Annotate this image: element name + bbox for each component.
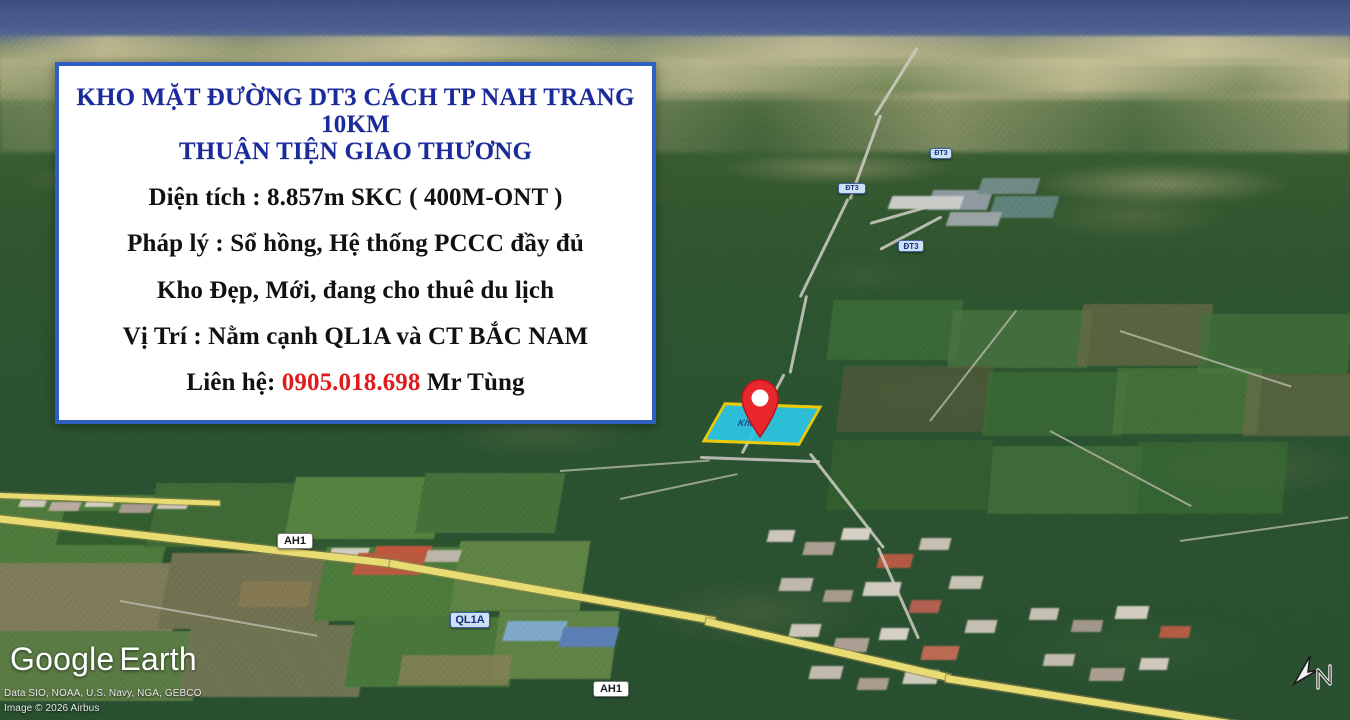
- contact-line: Liên hệ: 0905.018.698 Mr Tùng: [73, 370, 638, 396]
- google-earth-logo: GoogleEarth: [10, 641, 197, 678]
- north-arrow-icon[interactable]: [1288, 650, 1336, 694]
- panel-title-line-2: THUẬN TIỆN GIAO THƯƠNG: [73, 138, 638, 165]
- earth-wordmark: Earth: [119, 641, 196, 677]
- panel-title-line-1: KHO MẶT ĐƯỜNG DT3 CÁCH TP NAH TRANG 10KM: [73, 84, 638, 138]
- google-wordmark: Google: [10, 641, 114, 677]
- panel-title: KHO MẶT ĐƯỜNG DT3 CÁCH TP NAH TRANG 10KM…: [73, 84, 638, 165]
- detail-legal: Pháp lý : Sổ hồng, Hệ thống PCCC đầy đủ: [73, 231, 638, 257]
- listing-info-panel: KHO MẶT ĐƯỜNG DT3 CÁCH TP NAH TRANG 10KM…: [55, 62, 656, 424]
- contact-person: Mr Tùng: [427, 369, 525, 396]
- panel-details: Diện tích : 8.857m SKC ( 400M-ONT ) Pháp…: [73, 185, 638, 396]
- contact-phone[interactable]: 0905.018.698: [282, 369, 421, 396]
- contact-prefix: Liên hệ:: [186, 369, 275, 396]
- detail-status: Kho Đẹp, Mới, đang cho thuê du lịch: [73, 278, 638, 304]
- attribution-data: Data SIO, NOAA, U.S. Navy, NGA, GEBCO: [4, 688, 201, 699]
- detail-area: Diện tích : 8.857m SKC ( 400M-ONT ): [73, 185, 638, 211]
- detail-location: Vị Trí : Nằm cạnh QL1A và CT BẮC NAM: [73, 324, 638, 350]
- google-earth-screenshot: AH1 QL1A AH1 ĐT3 ĐT3 ĐT3 Kho GoogleEarth…: [0, 0, 1350, 720]
- attribution-image: Image © 2026 Airbus: [4, 703, 99, 714]
